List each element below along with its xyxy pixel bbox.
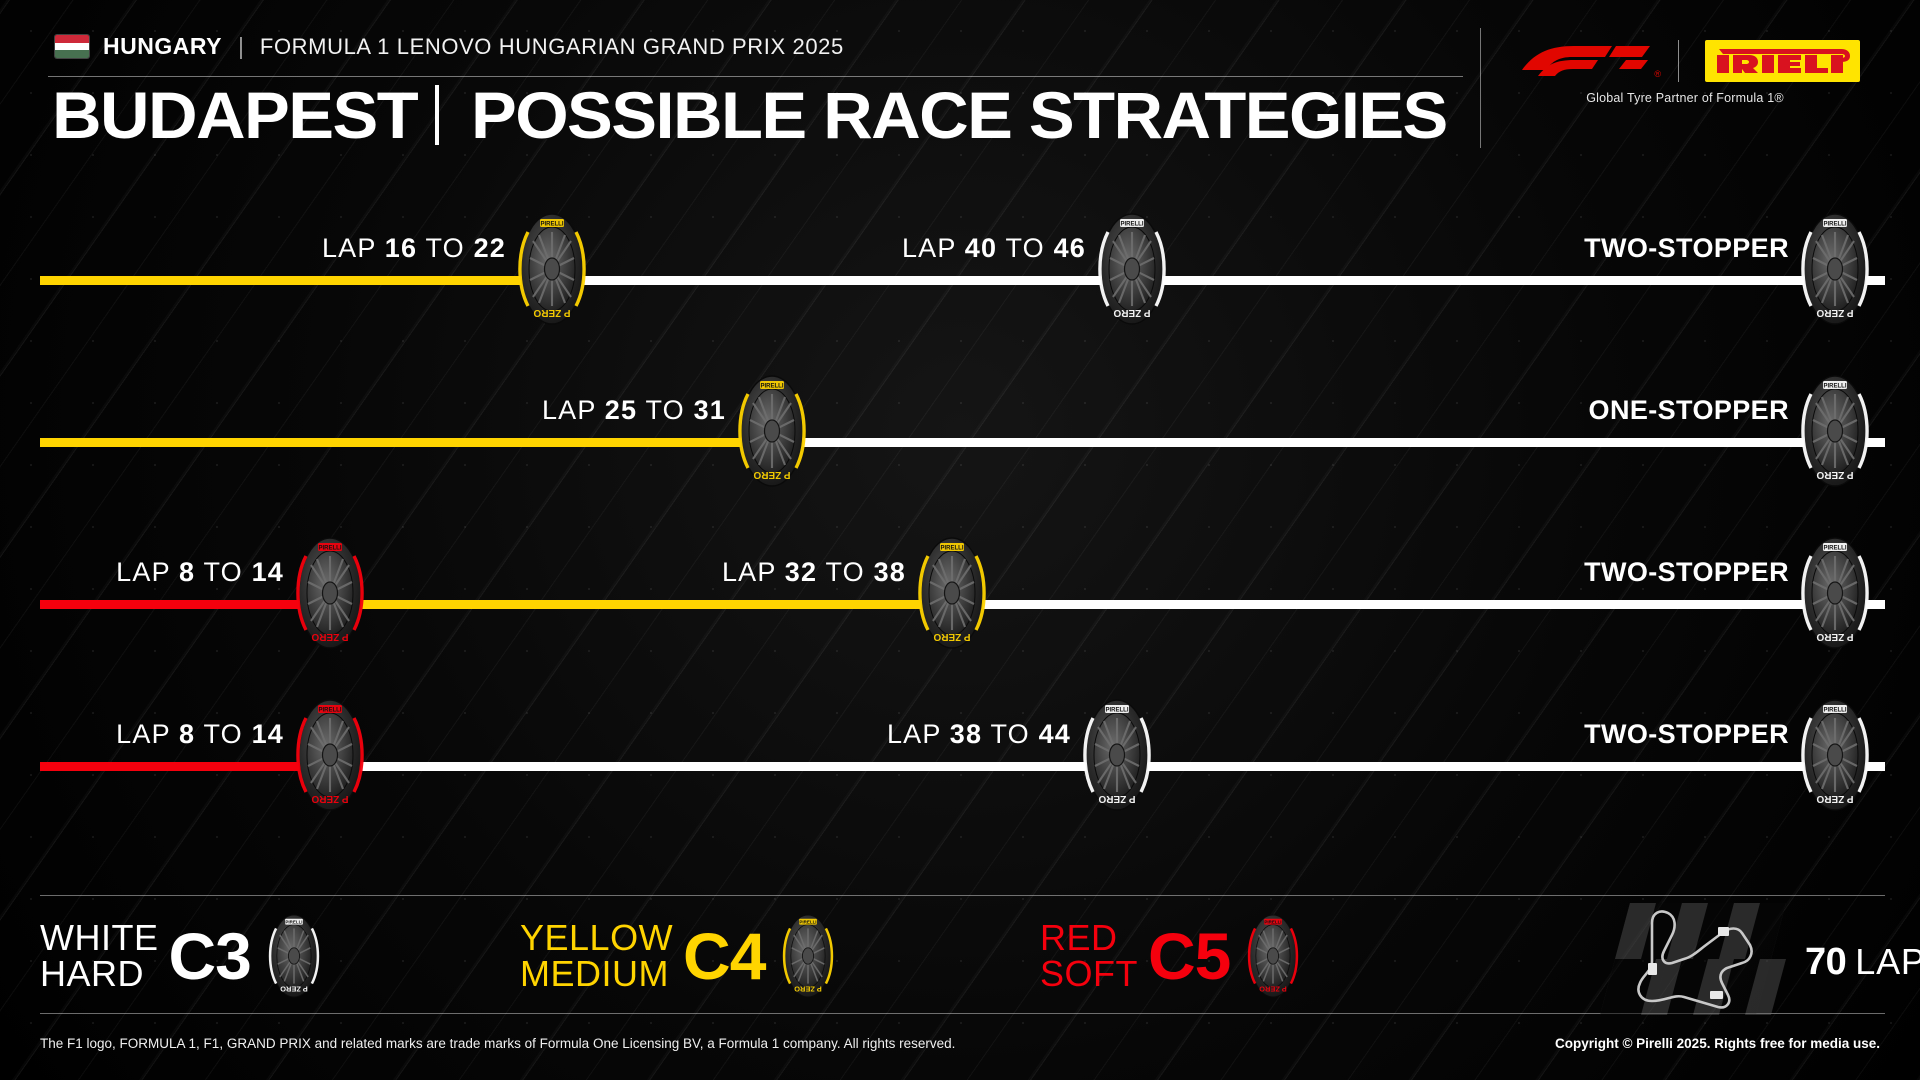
hungaroring-track-map-icon [1622, 905, 1792, 1013]
legend-item: WHITEHARDC3 [40, 913, 327, 999]
svg-text:PIRELLI: PIRELLI [318, 546, 341, 552]
svg-text:P ZERO: P ZERO [311, 793, 348, 804]
svg-text:P ZERO: P ZERO [311, 631, 348, 642]
header-vertical-divider [1480, 28, 1481, 148]
svg-text:P ZERO: P ZERO [1113, 307, 1150, 318]
stint-bar-segment [40, 438, 770, 447]
tyre-compound-icon: PIRELLI P ZERO [1073, 696, 1161, 814]
svg-text:P ZERO: P ZERO [533, 307, 570, 318]
strategy-stops-label: ONE-STOPPER [1589, 395, 1789, 426]
legend-compound-code: C3 [168, 925, 250, 988]
header-divider [48, 76, 1463, 77]
tyre-compound-icon: PIRELLI P ZERO [728, 372, 816, 490]
grand-prix-name: FORMULA 1 LENOVO HUNGARIAN GRAND PRIX 20… [260, 34, 844, 60]
strategy-stops-label: TWO-STOPPER [1584, 557, 1789, 588]
legend-colour-name: WHITE [40, 920, 158, 956]
strategy-row: LAP 25 TO 31 [0, 337, 1920, 497]
f1-logo-icon: ® [1520, 44, 1652, 78]
legend-item: REDSOFTC5 PI [1040, 913, 1306, 999]
f1-registered-mark: ® [1654, 69, 1661, 79]
stint-bar-segment [950, 600, 1885, 609]
stint-bar-segment [550, 276, 1130, 285]
svg-text:PIRELLI: PIRELLI [540, 222, 563, 228]
svg-text:PIRELLI: PIRELLI [1823, 546, 1846, 552]
flag-stripe-green [55, 50, 89, 58]
stint-bar-segment [40, 762, 325, 771]
logo-block: ® Global Tyre Partner of Formula [1520, 40, 1890, 105]
legend-compound-name: HARD [40, 956, 158, 992]
strategy-stops-label: TWO-STOPPER [1584, 233, 1789, 264]
legend-compound-names: REDSOFT [1040, 920, 1138, 992]
flag-stripe-red [55, 35, 89, 43]
svg-text:PIRELLI: PIRELLI [800, 920, 817, 925]
tyre-compound-icon: PIRELLI P ZERO [286, 696, 374, 814]
legend-divider-top [40, 895, 1885, 896]
stint-bar-segment [40, 276, 550, 285]
pit-window-label: LAP 25 TO 31 [542, 395, 726, 426]
tyre-compound-icon: PIRELLI P ZERO [1088, 210, 1176, 328]
footer: The F1 logo, FORMULA 1, F1, GRAND PRIX a… [0, 1036, 1920, 1066]
hungary-flag-icon [55, 35, 89, 58]
stint-bar-segment [1115, 762, 1885, 771]
pit-window-label: LAP 16 TO 22 [322, 233, 506, 264]
strategy-row: LAP 8 TO 14 [0, 499, 1920, 659]
pit-window-label: LAP 38 TO 44 [887, 719, 1071, 750]
race-distance: 70 LAPS [1805, 941, 1920, 984]
tyre-compound-icon: PIRELLI P ZERO [908, 534, 996, 652]
legend-compound-names: WHITEHARD [40, 920, 158, 992]
legend-colour-name: RED [1040, 920, 1138, 956]
legend-compound-names: YELLOWMEDIUM [520, 920, 673, 992]
legend-compound-code: C5 [1148, 925, 1230, 988]
legend-compound-name: MEDIUM [520, 956, 673, 992]
svg-text:PIRELLI: PIRELLI [318, 708, 341, 714]
tyre-compound-icon: PIRELLI P ZERO [286, 534, 374, 652]
svg-text:PIRELLI: PIRELLI [285, 920, 302, 925]
svg-text:PIRELLI: PIRELLI [1823, 222, 1846, 228]
copyright-notice: Copyright © Pirelli 2025. Rights free fo… [1555, 1036, 1880, 1051]
header: HUNGARY | FORMULA 1 LENOVO HUNGARIAN GRA… [0, 0, 1920, 160]
title-subject: POSSIBLE RACE STRATEGIES [471, 82, 1447, 148]
svg-text:PIRELLI: PIRELLI [1105, 708, 1128, 714]
stint-bar-segment [1130, 276, 1885, 285]
stint-bar-track [40, 438, 1885, 447]
tyre-compound-icon: PIRELLI P ZERO [1791, 210, 1879, 328]
legend-item: YELLOWMEDIUMC4 [520, 913, 841, 999]
strategy-stops-label: TWO-STOPPER [1584, 719, 1789, 750]
pirelli-logo-icon [1705, 40, 1860, 82]
stint-bar-segment [40, 600, 325, 609]
svg-text:P ZERO: P ZERO [1816, 793, 1853, 804]
compound-legend: 70 LAPS WHITEHARDC3 [0, 895, 1920, 1025]
svg-text:P ZERO: P ZERO [1816, 469, 1853, 480]
legend-compound-code: C4 [683, 925, 765, 988]
svg-text:PIRELLI: PIRELLI [1265, 920, 1282, 925]
legend-tyre-icon: PIRELLI P ZERO [261, 912, 327, 1000]
stint-bar-track [40, 276, 1885, 285]
svg-text:P ZERO: P ZERO [794, 985, 822, 994]
pit-window-label: LAP 8 TO 14 [116, 719, 284, 750]
legend-tyre-icon: PIRELLI P ZERO [1240, 912, 1306, 1000]
stint-bar-segment [325, 762, 1115, 771]
strategy-row: LAP 8 TO 14 [0, 661, 1920, 821]
legend-compound-name: SOFT [1040, 956, 1138, 992]
tyre-compound-icon: PIRELLI P ZERO [1791, 534, 1879, 652]
svg-text:P ZERO: P ZERO [1816, 631, 1853, 642]
svg-text:PIRELLI: PIRELLI [1823, 708, 1846, 714]
tyre-compound-icon: PIRELLI P ZERO [1791, 372, 1879, 490]
stint-bar-segment [770, 438, 1885, 447]
svg-text:P ZERO: P ZERO [1259, 985, 1287, 994]
meta-separator: | [238, 33, 244, 60]
svg-text:PIRELLI: PIRELLI [1823, 384, 1846, 390]
stint-bar-segment [325, 600, 950, 609]
logo-row: ® [1520, 40, 1890, 82]
flag-stripe-white [55, 43, 89, 51]
svg-text:PIRELLI: PIRELLI [760, 384, 783, 390]
legend-tyre-icon: PIRELLI P ZERO [775, 912, 841, 1000]
svg-text:P ZERO: P ZERO [1816, 307, 1853, 318]
laps-count: 70 [1805, 941, 1846, 984]
logo-separator [1678, 40, 1679, 82]
legend-colour-name: YELLOW [520, 920, 673, 956]
svg-text:PIRELLI: PIRELLI [1120, 222, 1143, 228]
pit-window-label: LAP 40 TO 46 [902, 233, 1086, 264]
tyre-compound-icon: PIRELLI P ZERO [508, 210, 596, 328]
title-divider [435, 85, 439, 145]
svg-text:PIRELLI: PIRELLI [940, 546, 963, 552]
tyre-partner-line: Global Tyre Partner of Formula 1® [1520, 91, 1850, 105]
title-city: BUDAPEST [52, 82, 417, 148]
pit-window-label: LAP 8 TO 14 [116, 557, 284, 588]
pit-window-label: LAP 32 TO 38 [722, 557, 906, 588]
strategy-row: LAP 16 TO 22 [0, 175, 1920, 335]
svg-text:P ZERO: P ZERO [933, 631, 970, 642]
country-name: HUNGARY [103, 33, 222, 60]
tyre-compound-icon: PIRELLI P ZERO [1791, 696, 1879, 814]
page-title: BUDAPEST POSSIBLE RACE STRATEGIES [52, 82, 1409, 148]
svg-text:P ZERO: P ZERO [280, 985, 308, 994]
event-meta: HUNGARY | FORMULA 1 LENOVO HUNGARIAN GRA… [55, 33, 844, 60]
svg-text:P ZERO: P ZERO [753, 469, 790, 480]
laps-label: LAPS [1855, 941, 1920, 983]
circuit-block: 70 LAPS [1600, 901, 1890, 1016]
legal-notice: The F1 logo, FORMULA 1, F1, GRAND PRIX a… [40, 1036, 955, 1051]
svg-text:P ZERO: P ZERO [1098, 793, 1135, 804]
strategy-chart: LAP 16 TO 22 [0, 175, 1920, 875]
